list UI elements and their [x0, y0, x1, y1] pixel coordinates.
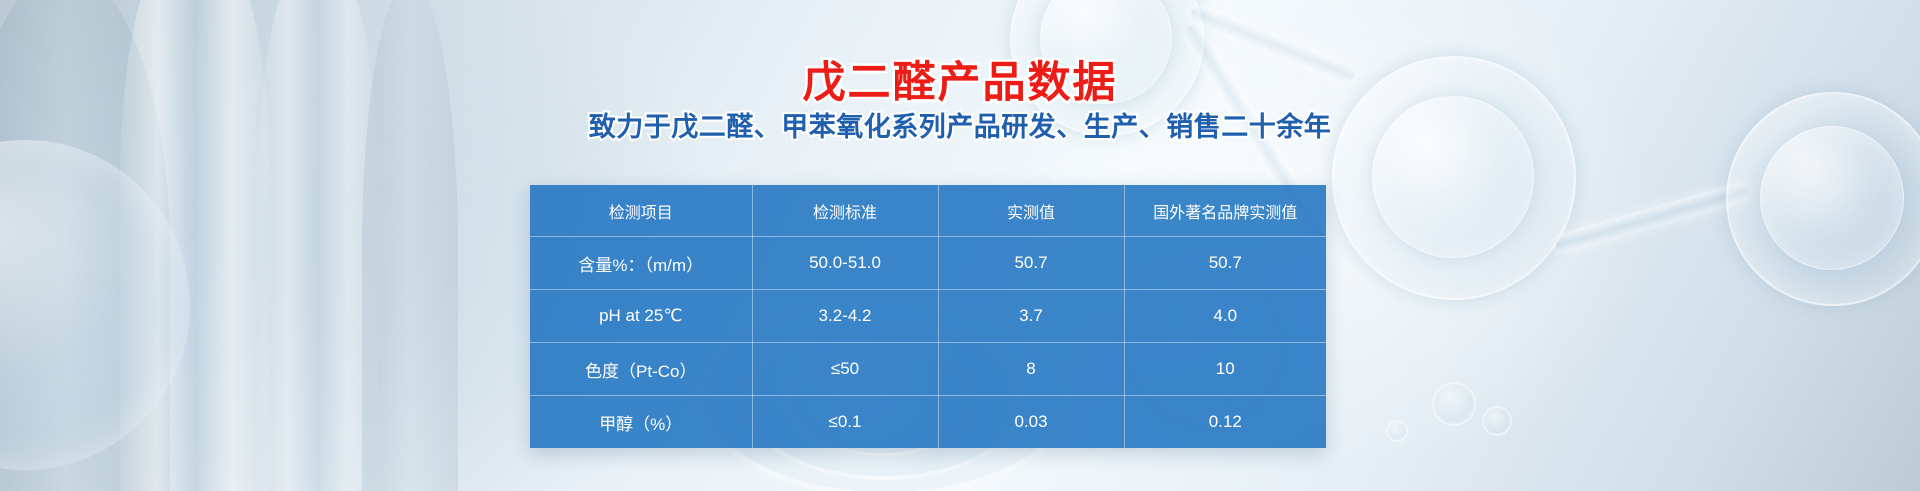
cell-foreign: 4.0 — [1124, 290, 1326, 343]
page-title: 戊二醛产品数据 — [0, 48, 1920, 110]
product-data-banner: 戊二醛产品数据 致力于戊二醛、甲苯氧化系列产品研发、生产、销售二十余年 检测项目… — [0, 0, 1920, 491]
cell-item: 色度（Pt-Co） — [530, 343, 752, 396]
page-subtitle: 致力于戊二醛、甲苯氧化系列产品研发、生产、销售二十余年 — [0, 105, 1920, 144]
table-header-row: 检测项目 检测标准 实测值 国外著名品牌实测值 — [530, 185, 1326, 237]
cell-measured: 8 — [938, 343, 1124, 396]
molecule-ring-3-inner — [1760, 126, 1904, 270]
cell-standard: 3.2-4.2 — [752, 290, 938, 343]
table-row: 甲醇（%） ≤0.1 0.03 0.12 — [530, 396, 1326, 449]
cell-standard: ≤50 — [752, 343, 938, 396]
cell-foreign: 0.12 — [1124, 396, 1326, 449]
cell-foreign: 50.7 — [1124, 237, 1326, 290]
cell-item: 甲醇（%） — [530, 396, 752, 449]
cell-standard: 50.0-51.0 — [752, 237, 938, 290]
column-header-foreign: 国外著名品牌实测值 — [1124, 185, 1326, 237]
droplet-small-2 — [1482, 406, 1512, 436]
product-data-table: 检测项目 检测标准 实测值 国外著名品牌实测值 含量%：（m/m） 50.0-5… — [530, 185, 1326, 448]
cell-item: pH at 25℃ — [530, 290, 752, 343]
droplet-small-1 — [1432, 382, 1476, 426]
cell-standard: ≤0.1 — [752, 396, 938, 449]
molecule-bond-2 — [1553, 181, 1751, 255]
cell-item: 含量%：（m/m） — [530, 237, 752, 290]
product-data-table-wrap: 检测项目 检测标准 实测值 国外著名品牌实测值 含量%：（m/m） 50.0-5… — [530, 185, 1326, 448]
cell-foreign: 10 — [1124, 343, 1326, 396]
cell-measured: 0.03 — [938, 396, 1124, 449]
glass-blob-left — [0, 140, 190, 470]
table-row: 色度（Pt-Co） ≤50 8 10 — [530, 343, 1326, 396]
cell-measured: 50.7 — [938, 237, 1124, 290]
column-header-standard: 检测标准 — [752, 185, 938, 237]
cell-measured: 3.7 — [938, 290, 1124, 343]
table-row: pH at 25℃ 3.2-4.2 3.7 4.0 — [530, 290, 1326, 343]
droplet-small-3 — [1386, 420, 1408, 442]
column-header-measured: 实测值 — [938, 185, 1124, 237]
column-header-item: 检测项目 — [530, 185, 752, 237]
table-row: 含量%：（m/m） 50.0-51.0 50.7 50.7 — [530, 237, 1326, 290]
